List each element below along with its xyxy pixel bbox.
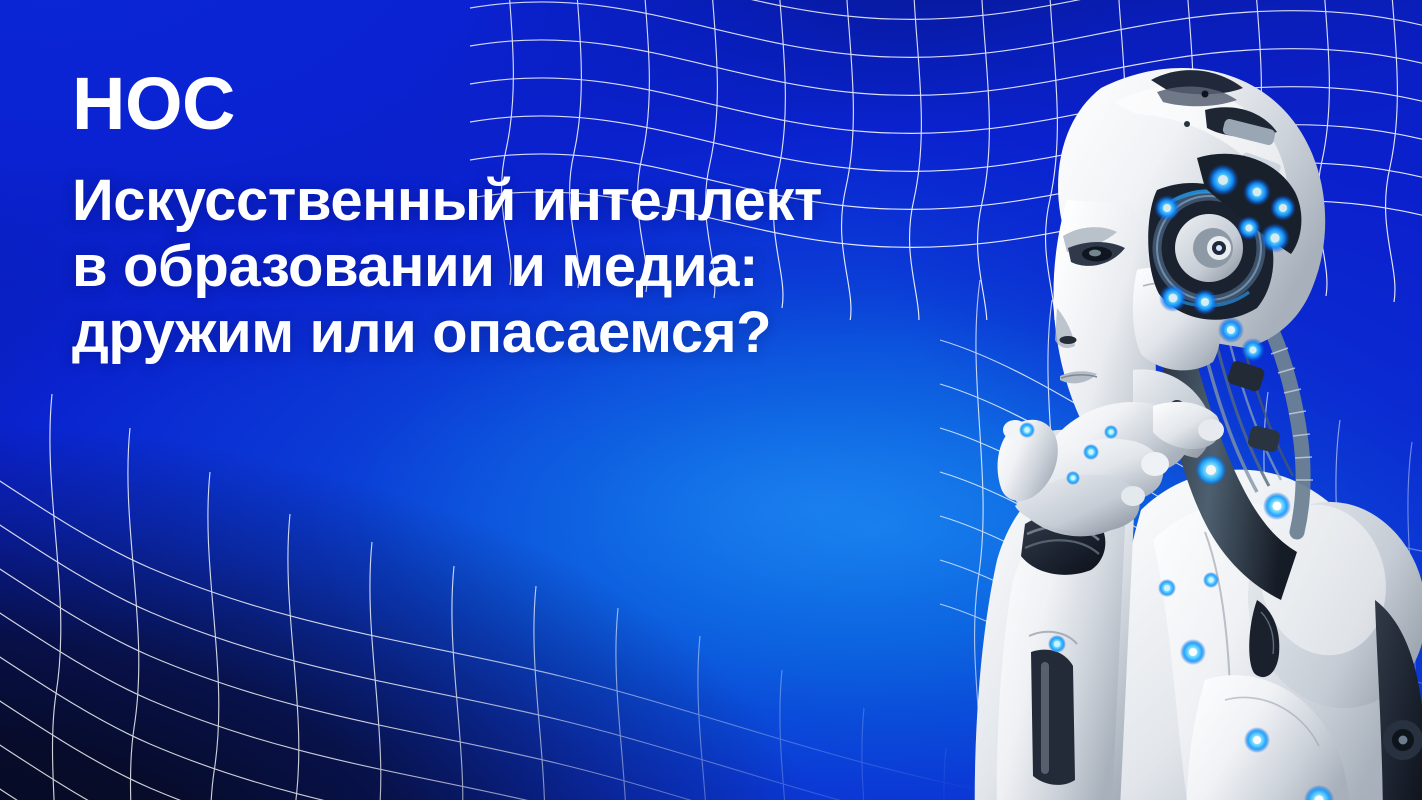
page-title-line-3: дружим или опасаемся?	[72, 300, 972, 366]
slide-content: НОС Искусственный интеллект в образовани…	[0, 0, 1422, 800]
page-title-line-1: Искусственный интеллект	[72, 168, 972, 234]
page-title-line-2: в образовании и медиа:	[72, 234, 972, 300]
brand-logo: НОС	[72, 70, 235, 138]
slide-canvas: НОС Искусственный интеллект в образовани…	[0, 0, 1422, 800]
page-title: Искусственный интеллект в образовании и …	[72, 168, 972, 366]
